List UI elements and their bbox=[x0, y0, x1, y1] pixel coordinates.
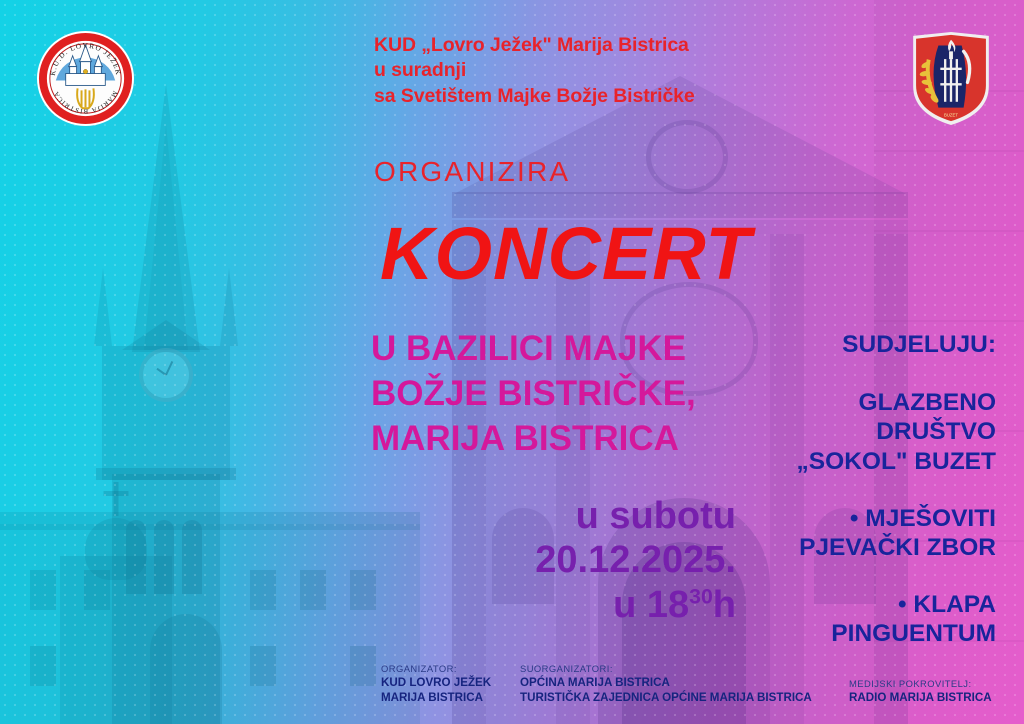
participant-item: GLAZBENO DRUŠTVO „SOKOL" BUZET bbox=[764, 388, 996, 477]
footer-coorganizers: SUORGANIZATORI: OPĆINA MARIJA BISTRICA T… bbox=[520, 663, 812, 706]
participant-item: • MJEŠOVITI PJEVAČKI ZBOR bbox=[764, 504, 996, 563]
participant-3-line-1: • KLAPA bbox=[764, 590, 996, 620]
time-prefix: u 18 bbox=[613, 584, 689, 626]
header-line-1: KUD „Lovro Ježek" Marija Bistrica bbox=[374, 33, 804, 58]
datetime-block: u subotu 20.12.2025. u 1830h bbox=[476, 494, 736, 627]
footer-organizer-line-2: MARIJA BISTRICA bbox=[381, 691, 491, 706]
svg-text:BUZET: BUZET bbox=[944, 112, 958, 117]
concert-poster: K.U.D. LOVRO JEŽEK MARIJA BISTRICA bbox=[0, 0, 1024, 724]
footer-media-line-1: RADIO MARIJA BISTRICA bbox=[849, 691, 992, 706]
footer-media-sponsor: MEDIJSKI POKROVITELJ: RADIO MARIJA BISTR… bbox=[849, 678, 992, 706]
participant-2-line-2: PJEVAČKI ZBOR bbox=[764, 533, 996, 563]
time-value: u 1830h bbox=[476, 583, 736, 627]
participants-block: SUDJELUJU: GLAZBENO DRUŠTVO „SOKOL" BUZE… bbox=[764, 330, 996, 649]
sokol-buzet-logo: BUZET bbox=[909, 30, 993, 127]
date-value: 20.12.2025. bbox=[476, 538, 736, 582]
footer-coorganizers-label: SUORGANIZATORI: bbox=[520, 663, 812, 674]
time-suffix: h bbox=[713, 584, 736, 626]
participant-1-line-2: DRUŠTVO bbox=[764, 417, 996, 447]
organizira-label: ORGANIZIRA bbox=[374, 156, 570, 188]
venue-line-2: BOŽJE BISTRIČKE, bbox=[371, 372, 761, 417]
header-line-2: u suradnji bbox=[374, 58, 804, 83]
participant-3-line-2: PINGUENTUM bbox=[764, 619, 996, 649]
venue-block: U BAZILICI MAJKE BOŽJE BISTRIČKE, MARIJA… bbox=[371, 327, 761, 461]
footer-coorganizers-line-1: OPĆINA MARIJA BISTRICA bbox=[520, 676, 812, 691]
time-minutes: 30 bbox=[689, 584, 713, 608]
footer-organizer-label: ORGANIZATOR: bbox=[381, 663, 491, 674]
header-line-3: sa Svetištem Majke Božje Bistričke bbox=[374, 84, 804, 109]
footer-organizer-line-1: KUD LOVRO JEŽEK bbox=[381, 676, 491, 691]
participant-1-line-1: GLAZBENO bbox=[764, 388, 996, 418]
page-title: KONCERT bbox=[380, 217, 752, 291]
footer-organizer: ORGANIZATOR: KUD LOVRO JEŽEK MARIJA BIST… bbox=[381, 663, 491, 706]
participant-2-line-1: • MJEŠOVITI bbox=[764, 504, 996, 534]
date-weekday: u subotu bbox=[476, 494, 736, 538]
venue-line-3: MARIJA BISTRICA bbox=[371, 417, 761, 462]
footer-coorganizers-line-2: TURISTIČKA ZAJEDNICA OPĆINE MARIJA BISTR… bbox=[520, 691, 812, 706]
participant-item: • KLAPA PINGUENTUM bbox=[764, 590, 996, 649]
kud-lovro-jezek-logo: K.U.D. LOVRO JEŽEK MARIJA BISTRICA bbox=[36, 29, 135, 128]
participants-heading: SUDJELUJU: bbox=[764, 330, 996, 360]
participant-1-line-3: „SOKOL" BUZET bbox=[764, 447, 996, 477]
collaboration-header: KUD „Lovro Ježek" Marija Bistrica u sura… bbox=[374, 33, 804, 109]
footer-media-label: MEDIJSKI POKROVITELJ: bbox=[849, 678, 992, 689]
venue-line-1: U BAZILICI MAJKE bbox=[371, 327, 761, 372]
